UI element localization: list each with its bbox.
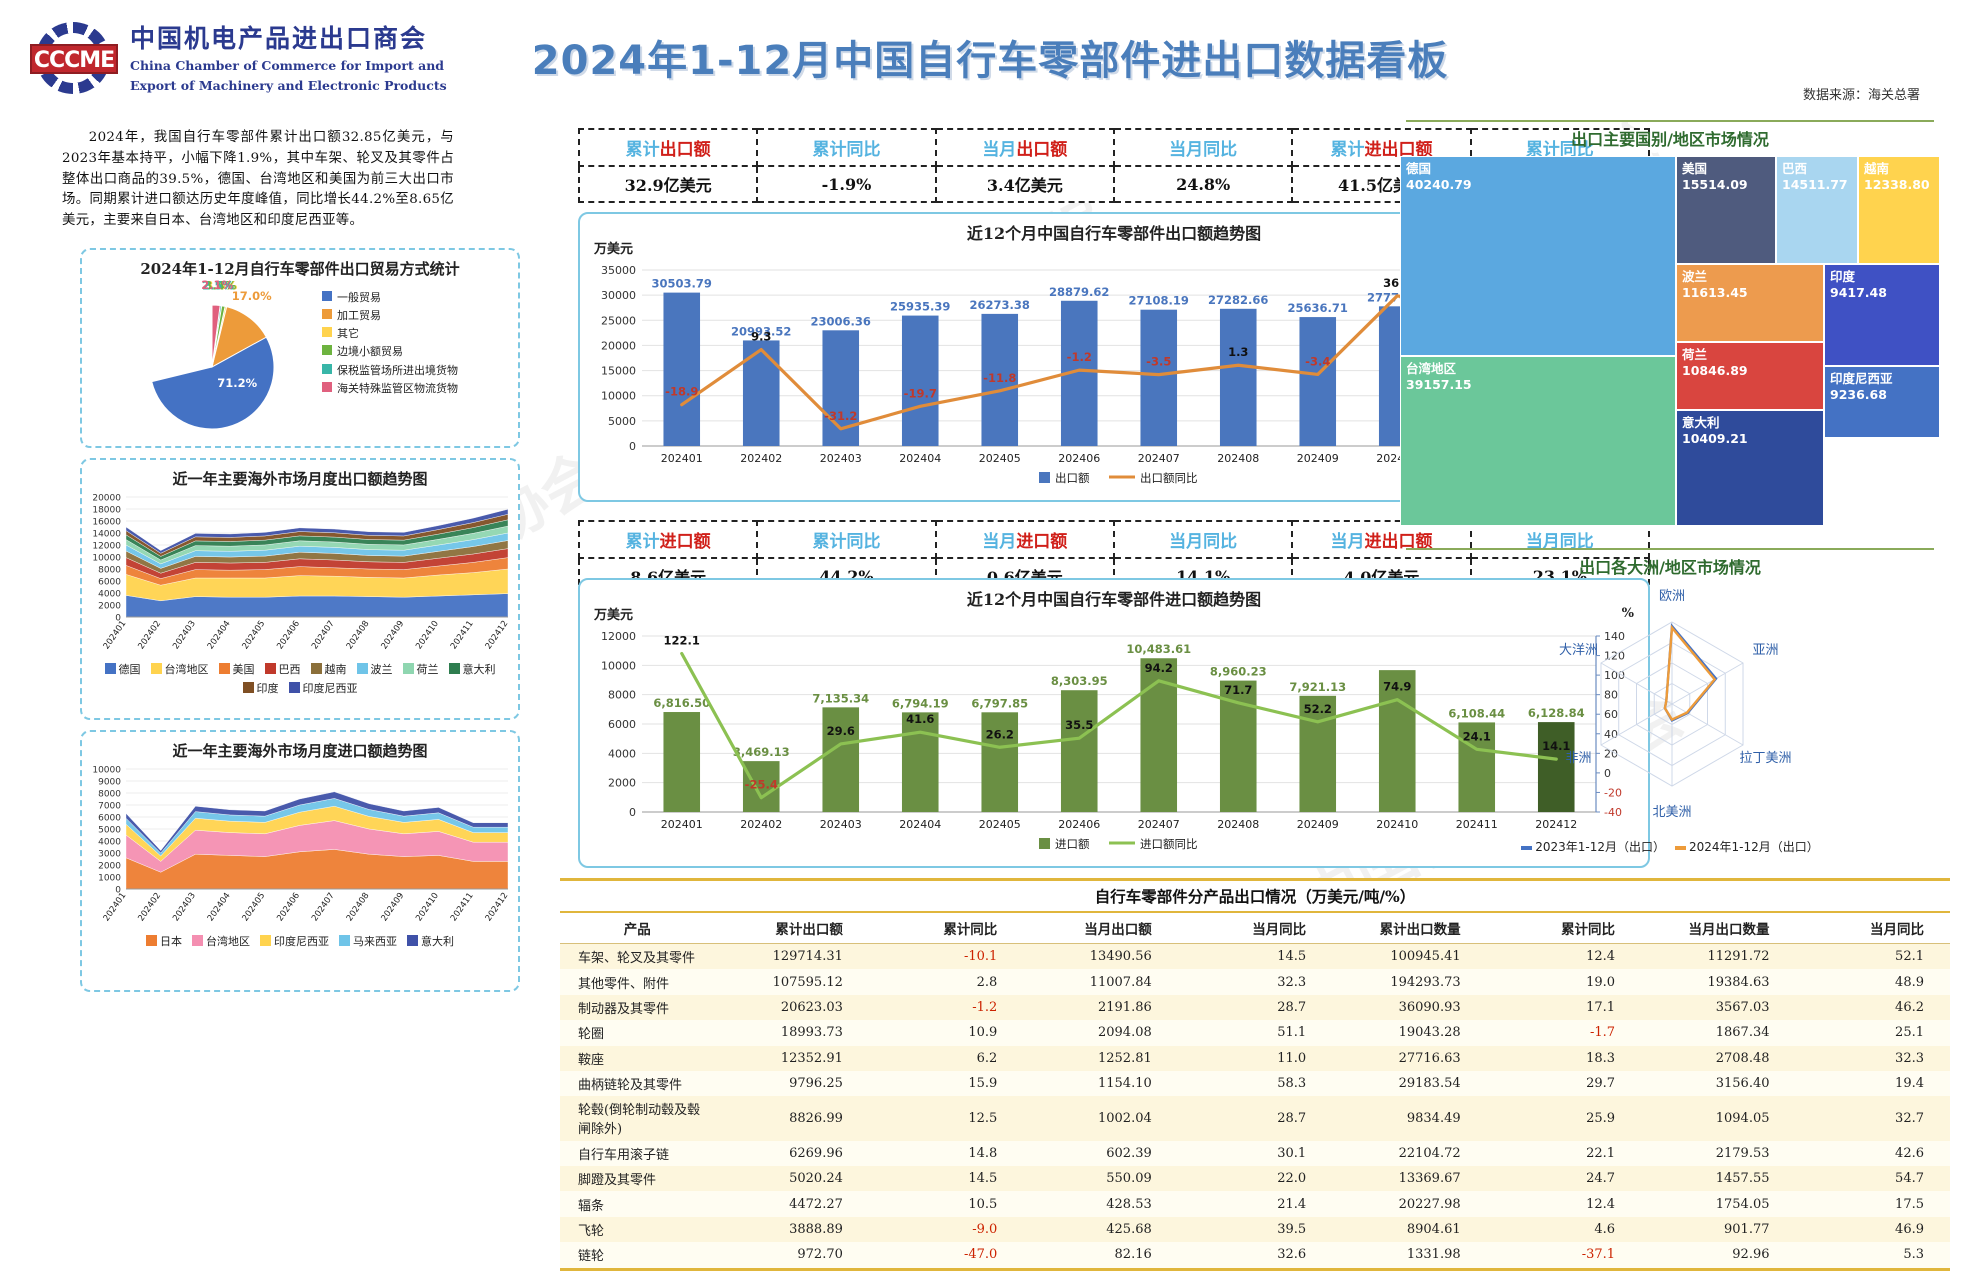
svg-text:202406: 202406: [1058, 452, 1100, 465]
svg-text:8,303.95: 8,303.95: [1051, 674, 1108, 688]
svg-text:非洲: 非洲: [1565, 751, 1591, 766]
product-value-cell: 2708.48: [1641, 1046, 1795, 1071]
treemap-cell-value: 15514.09: [1682, 177, 1770, 193]
svg-text:2000: 2000: [98, 602, 121, 612]
svg-text:202407: 202407: [1138, 452, 1180, 465]
svg-text:202401: 202401: [102, 619, 129, 651]
svg-text:30503.79: 30503.79: [652, 277, 712, 291]
product-value-cell: 12.4: [1487, 944, 1641, 970]
product-value-cell: 27716.63: [1332, 1046, 1486, 1071]
legend-item: 波兰: [357, 661, 393, 677]
treemap-cell[interactable]: 意大利10409.21: [1676, 410, 1824, 526]
legend-item: 日本: [146, 933, 182, 949]
product-value-cell: 11007.84: [1023, 969, 1177, 994]
legend-item: 美国: [219, 661, 255, 677]
product-value-cell: 9796.25: [714, 1071, 868, 1096]
svg-text:10000: 10000: [601, 659, 636, 672]
product-value-cell: 25.1: [1796, 1020, 1951, 1045]
svg-text:-25.4: -25.4: [745, 778, 778, 792]
product-value-cell: 39.5: [1178, 1217, 1332, 1242]
treemap-cell-name: 越南: [1864, 161, 1934, 177]
org-logo: CCCME 中国机电产品进出口商会 China Chamber of Comme…: [30, 18, 447, 96]
legend-item: 德国: [105, 661, 141, 677]
area-export-legend: 德国台湾地区美国巴西越南波兰荷兰意大利印度印度尼西亚: [82, 661, 518, 696]
svg-text:202402: 202402: [740, 818, 782, 831]
svg-text:71.2%: 71.2%: [217, 376, 257, 390]
svg-text:拉丁美洲: 拉丁美洲: [1740, 751, 1792, 766]
treemap-cell[interactable]: 波兰11613.45: [1676, 264, 1824, 342]
kpi-header-cell: 累计同比: [757, 521, 935, 558]
product-value-cell: 28.7: [1178, 995, 1332, 1020]
treemap-cell[interactable]: 巴西14511.77: [1776, 156, 1858, 264]
treemap-cell[interactable]: 德国40240.79: [1400, 156, 1676, 356]
org-name: 中国机电产品进出口商会 China Chamber of Commerce fo…: [130, 19, 447, 95]
page-title: 2024年1-12月中国自行车零部件进出口数据看板: [430, 28, 1550, 86]
export-trade-mode-pie-panel: 2024年1-12月自行车零部件出口贸易方式统计 71.2%17.0%3.8%3…: [80, 248, 520, 448]
svg-text:202404: 202404: [899, 452, 941, 465]
svg-text:3000: 3000: [98, 850, 121, 860]
product-value-cell: 22.1: [1487, 1141, 1641, 1166]
overseas-monthly-export-area-panel: 近一年主要海外市场月度出口额趋势图 0200040006000800010000…: [80, 458, 520, 720]
svg-text:8,960.23: 8,960.23: [1210, 665, 1267, 679]
product-value-cell: 425.68: [1023, 1217, 1177, 1242]
product-table-column-header: 当月同比: [1796, 913, 1951, 944]
summary-paragraph: 2024年，我国自行车零部件累计出口额32.85亿美元，与2023年基本持平，小…: [62, 128, 454, 232]
svg-text:6,794.19: 6,794.19: [892, 696, 949, 710]
product-value-cell: 17.1: [1487, 995, 1641, 1020]
legend-item: 印度尼西亚: [289, 680, 358, 696]
product-value-cell: 901.77: [1641, 1217, 1795, 1242]
product-value-cell: 21.4: [1178, 1191, 1332, 1216]
product-name-cell: 自行车用滚子链: [560, 1141, 714, 1166]
product-value-cell: -47.0: [869, 1242, 1023, 1269]
legend-item: 意大利: [449, 661, 496, 677]
treemap-cell-name: 巴西: [1782, 161, 1852, 177]
product-table-column-header: 当月出口额: [1023, 913, 1177, 944]
product-value-cell: 1867.34: [1641, 1020, 1795, 1045]
svg-text:6,797.85: 6,797.85: [971, 696, 1028, 710]
product-value-cell: 46.2: [1796, 995, 1951, 1020]
treemap-cell-value: 14511.77: [1782, 177, 1852, 193]
svg-text:71.7: 71.7: [1224, 683, 1252, 697]
treemap-cell-value: 10409.21: [1682, 431, 1818, 447]
svg-text:202406: 202406: [275, 619, 302, 651]
svg-text:202405: 202405: [241, 891, 268, 923]
legend-item: 越南: [311, 661, 347, 677]
cccme-logo-icon: CCCME: [30, 18, 118, 96]
svg-text:大洋洲: 大洋洲: [1559, 643, 1598, 658]
product-value-cell: 52.1: [1796, 944, 1951, 970]
product-value-cell: 1457.55: [1641, 1166, 1795, 1191]
svg-text:202405: 202405: [979, 452, 1021, 465]
product-value-cell: -10.1: [869, 944, 1023, 970]
product-value-cell: 3888.89: [714, 1217, 868, 1242]
svg-text:202406: 202406: [275, 891, 302, 923]
product-value-cell: 51.1: [1178, 1020, 1332, 1045]
svg-text:25636.71: 25636.71: [1288, 301, 1348, 315]
svg-text:202408: 202408: [1217, 452, 1259, 465]
svg-text:1.3: 1.3: [1228, 345, 1248, 359]
product-value-cell: 6269.96: [714, 1141, 868, 1166]
product-value-cell: -9.0: [869, 1217, 1023, 1242]
legend-item: 台湾地区: [192, 933, 250, 949]
product-table-header-row: 产品累计出口额累计同比当月出口额当月同比累计出口数量累计同比当月出口数量当月同比: [560, 913, 1950, 944]
area-import-chart: 0100020003000400050006000700080009000100…: [82, 761, 518, 933]
svg-text:3,469.13: 3,469.13: [733, 745, 790, 759]
svg-text:202408: 202408: [345, 619, 372, 651]
svg-text:7000: 7000: [98, 802, 121, 812]
product-value-cell: 428.53: [1023, 1191, 1177, 1216]
table-row[interactable]: 其他零件、附件107595.122.811007.8432.3194293.73…: [560, 969, 1950, 994]
treemap-cell-value: 39157.15: [1406, 377, 1670, 393]
product-value-cell: 1754.05: [1641, 1191, 1795, 1216]
svg-text:20000: 20000: [601, 339, 636, 352]
svg-text:52.2: 52.2: [1304, 702, 1332, 716]
svg-text:4000: 4000: [608, 747, 636, 760]
svg-text:9000: 9000: [98, 778, 121, 788]
table-row[interactable]: 曲柄链轮及其零件9796.2515.91154.1058.329183.5429…: [560, 1071, 1950, 1096]
svg-text:-11.8: -11.8: [983, 371, 1016, 385]
radar-title: 出口各大洲/地区市场情况: [1406, 548, 1934, 578]
svg-text:8000: 8000: [608, 689, 636, 702]
product-name-cell: 车架、轮叉及其零件: [560, 944, 714, 970]
treemap-cell[interactable]: 荷兰10846.89: [1676, 342, 1824, 410]
kpi-value-cell: -1.9%: [757, 166, 935, 202]
table-row[interactable]: 鞍座12352.916.21252.8111.027716.6318.32708…: [560, 1046, 1950, 1071]
svg-text:-3.5: -3.5: [1146, 355, 1171, 369]
svg-text:202407: 202407: [310, 619, 337, 651]
svg-text:30000: 30000: [601, 289, 636, 302]
svg-text:7,921.13: 7,921.13: [1289, 680, 1346, 694]
product-value-cell: 5020.24: [714, 1166, 868, 1191]
kpi-header-cell: 累计进口额: [579, 521, 757, 558]
svg-text:亚洲: 亚洲: [1753, 643, 1779, 658]
svg-text:202405: 202405: [241, 619, 268, 651]
product-value-cell: 20623.03: [714, 995, 868, 1020]
product-name-cell: 飞轮: [560, 1217, 714, 1242]
product-table-body: 车架、轮叉及其零件129714.31-10.113490.5614.510094…: [560, 944, 1950, 1270]
svg-text:202409: 202409: [1297, 818, 1339, 831]
product-name-cell: 轮圈: [560, 1020, 714, 1045]
table-row[interactable]: 自行车用滚子链6269.9614.8602.3930.122104.7222.1…: [560, 1141, 1950, 1166]
svg-text:-18.9: -18.9: [665, 385, 698, 399]
treemap-cell[interactable]: 越南12338.80: [1858, 156, 1940, 264]
export-unit-left: 万美元: [594, 238, 633, 257]
table-row[interactable]: 车架、轮叉及其零件129714.31-10.113490.5614.510094…: [560, 944, 1950, 970]
export-continent-radar: 欧洲亚洲拉丁美洲北美洲非洲大洋洲: [1400, 578, 1940, 836]
treemap-cell-name: 台湾地区: [1406, 361, 1670, 377]
svg-text:6000: 6000: [98, 578, 121, 588]
product-table-column-header: 产品: [560, 913, 714, 944]
table-row[interactable]: 制动器及其零件20623.03-1.22191.8628.736090.9317…: [560, 995, 1950, 1020]
product-value-cell: 19043.28: [1332, 1020, 1486, 1045]
svg-text:12000: 12000: [601, 630, 636, 643]
product-value-cell: 11291.72: [1641, 944, 1795, 970]
product-value-cell: 12.4: [1487, 1191, 1641, 1216]
product-value-cell: 18993.73: [714, 1020, 868, 1045]
product-value-cell: 14.5: [1178, 944, 1332, 970]
product-value-cell: 6.2: [869, 1046, 1023, 1071]
table-row[interactable]: 脚蹬及其零件5020.2414.5550.0922.013369.6724.71…: [560, 1166, 1950, 1191]
product-value-cell: 10.5: [869, 1191, 1023, 1216]
product-value-cell: 8904.61: [1332, 1217, 1486, 1242]
pie-legend-item: 保税监管场所进出境货物: [322, 362, 458, 380]
svg-text:9.3: 9.3: [751, 330, 771, 344]
svg-text:202412: 202412: [484, 891, 511, 923]
product-value-cell: 15.9: [869, 1071, 1023, 1096]
svg-text:202403: 202403: [171, 619, 198, 651]
area-export-chart: 0200040006000800010000120001400016000180…: [82, 489, 518, 661]
treemap-cell[interactable]: 台湾地区39157.15: [1400, 356, 1676, 526]
product-value-cell: -1.2: [869, 995, 1023, 1020]
legend-item: 台湾地区: [151, 661, 209, 677]
product-value-cell: 58.3: [1178, 1071, 1332, 1096]
product-value-cell: 48.9: [1796, 969, 1951, 994]
treemap-cell-name: 印度尼西亚: [1830, 371, 1934, 387]
pie-legend-item: 海关特殊监管区物流货物: [322, 380, 458, 398]
product-value-cell: 3156.40: [1641, 1071, 1795, 1096]
product-value-cell: 32.7: [1796, 1096, 1951, 1140]
svg-text:8000: 8000: [98, 790, 121, 800]
product-value-cell: 11.0: [1178, 1046, 1332, 1071]
svg-text:202406: 202406: [1058, 818, 1100, 831]
svg-text:8000: 8000: [98, 566, 121, 576]
svg-text:6000: 6000: [608, 718, 636, 731]
product-value-cell: 13490.56: [1023, 944, 1177, 970]
product-value-cell: 19.4: [1796, 1071, 1951, 1096]
area-import-legend: 日本台湾地区印度尼西亚马来西亚意大利: [82, 933, 518, 949]
product-value-cell: 2191.86: [1023, 995, 1177, 1020]
product-value-cell: 3567.03: [1641, 995, 1795, 1020]
svg-text:10000: 10000: [92, 554, 121, 564]
product-value-cell: 9834.49: [1332, 1096, 1486, 1140]
svg-text:202401: 202401: [661, 452, 703, 465]
product-table-column-header: 累计同比: [1487, 913, 1641, 944]
treemap-cell-name: 荷兰: [1682, 347, 1818, 363]
svg-text:-3.4: -3.4: [1305, 354, 1330, 368]
product-name-cell: 其他零件、附件: [560, 969, 714, 994]
export-continent-radar-panel: 出口各大洲/地区市场情况 欧洲亚洲拉丁美洲北美洲非洲大洋洲 2023年1-12月…: [1400, 548, 1940, 868]
treemap-cell[interactable]: 美国15514.09: [1676, 156, 1776, 264]
legend-item: 意大利: [407, 933, 454, 949]
table-row[interactable]: 轮毂(倒轮制动毂及毂闸除外)8826.9912.51002.0428.79834…: [560, 1096, 1950, 1140]
org-name-en-1: China Chamber of Commerce for Import and: [130, 58, 447, 75]
svg-text:202404: 202404: [899, 818, 941, 831]
svg-text:进口额同比: 进口额同比: [1140, 837, 1198, 851]
kpi-header-cell: 累计出口额: [579, 129, 757, 166]
kpi-header-cell: 当月同比: [1114, 129, 1292, 166]
svg-text:0: 0: [629, 440, 636, 453]
svg-text:6000: 6000: [98, 814, 121, 824]
product-value-cell: 972.70: [714, 1242, 868, 1269]
svg-text:北美洲: 北美洲: [1652, 805, 1691, 820]
product-value-cell: 25.9: [1487, 1096, 1641, 1140]
svg-text:27108.19: 27108.19: [1129, 294, 1189, 308]
svg-text:35.5: 35.5: [1065, 718, 1093, 732]
import-unit-left: 万美元: [594, 604, 633, 623]
product-value-cell: 28.7: [1178, 1096, 1332, 1140]
svg-text:202402: 202402: [136, 619, 163, 651]
legend-item: 印度尼西亚: [260, 933, 329, 949]
product-value-cell: 20227.98: [1332, 1191, 1486, 1216]
svg-text:23006.36: 23006.36: [811, 314, 871, 328]
svg-text:41.6: 41.6: [906, 712, 934, 726]
svg-text:-31.2: -31.2: [824, 409, 857, 423]
kpi-header-cell: 当月进口额: [936, 521, 1114, 558]
product-value-cell: 12.5: [869, 1096, 1023, 1140]
table-row[interactable]: 飞轮3888.89-9.0425.6839.58904.614.6901.774…: [560, 1217, 1950, 1242]
svg-text:10000: 10000: [92, 766, 121, 776]
kpi-value-cell: 24.8%: [1114, 166, 1292, 202]
svg-text:10,483.61: 10,483.61: [1126, 642, 1191, 656]
svg-text:202409: 202409: [1297, 452, 1339, 465]
treemap-cell-value: 11613.45: [1682, 285, 1818, 301]
product-table-column-header: 累计出口数量: [1332, 913, 1486, 944]
product-value-cell: 4.6: [1487, 1217, 1641, 1242]
svg-text:-1.2: -1.2: [1067, 350, 1092, 364]
product-value-cell: 14.8: [869, 1141, 1023, 1166]
product-value-cell: 107595.12: [714, 969, 868, 994]
radar-legend: 2023年1-12月（出口）2024年1-12月（出口）: [1400, 838, 1940, 855]
svg-text:26.2: 26.2: [986, 727, 1014, 741]
product-name-cell: 轮毂(倒轮制动毂及毂闸除外): [560, 1096, 714, 1140]
product-value-cell: 129714.31: [714, 944, 868, 970]
product-value-cell: 24.7: [1487, 1166, 1641, 1191]
product-value-cell: 29.7: [1487, 1071, 1641, 1096]
area-export-title: 近一年主要海外市场月度出口额趋势图: [82, 468, 518, 489]
svg-text:202409: 202409: [379, 891, 406, 923]
product-value-cell: 22.0: [1178, 1166, 1332, 1191]
product-value-cell: 29183.54: [1332, 1071, 1486, 1096]
pie-chart: 71.2%17.0%3.8%3.4%2.5%2.1%一般贸易加工贸易其它边境小额…: [82, 279, 518, 449]
pie-legend-item: 其它: [322, 325, 458, 343]
product-value-cell: 46.9: [1796, 1217, 1951, 1242]
product-value-cell: 82.16: [1023, 1242, 1177, 1269]
svg-text:202402: 202402: [136, 891, 163, 923]
product-value-cell: 13369.67: [1332, 1166, 1486, 1191]
svg-text:4000: 4000: [98, 838, 121, 848]
svg-text:18000: 18000: [92, 506, 121, 516]
svg-text:20000: 20000: [92, 494, 121, 504]
svg-text:202402: 202402: [740, 452, 782, 465]
product-value-cell: 550.09: [1023, 1166, 1177, 1191]
svg-text:202403: 202403: [820, 452, 862, 465]
table-row[interactable]: 轮圈18993.7310.92094.0851.119043.28-1.7186…: [560, 1020, 1950, 1045]
svg-text:5000: 5000: [608, 415, 636, 428]
area-import-title: 近一年主要海外市场月度进口额趋势图: [82, 740, 518, 761]
product-value-cell: 194293.73: [1332, 969, 1486, 994]
product-name-cell: 鞍座: [560, 1046, 714, 1071]
pie-chart-title: 2024年1-12月自行车零部件出口贸易方式统计: [82, 258, 518, 279]
svg-text:29.6: 29.6: [827, 724, 855, 738]
svg-text:202409: 202409: [379, 619, 406, 651]
svg-text:202411: 202411: [449, 619, 476, 651]
product-table-column-header: 当月同比: [1178, 913, 1332, 944]
product-export-table: 产品累计出口额累计同比当月出口额当月同比累计出口数量累计同比当月出口数量当月同比…: [560, 913, 1950, 1271]
treemap-cell-value: 12338.80: [1864, 177, 1934, 193]
svg-text:202404: 202404: [206, 891, 233, 923]
treemap-cell-value: 9417.48: [1830, 285, 1934, 301]
product-value-cell: 14.5: [869, 1166, 1023, 1191]
pie-legend-item: 加工贸易: [322, 307, 458, 325]
product-name-cell: 曲柄链轮及其零件: [560, 1071, 714, 1096]
treemap-cell-value: 9236.68: [1830, 387, 1934, 403]
product-value-cell: 19.0: [1487, 969, 1641, 994]
dashboard-header: CCCME 中国机电产品进出口商会 China Chamber of Comme…: [0, 0, 1968, 112]
treemap-cell[interactable]: 印度9417.48: [1824, 264, 1940, 366]
treemap-cell-value: 10846.89: [1682, 363, 1818, 379]
treemap-cell-name: 波兰: [1682, 269, 1818, 285]
product-value-cell: 19384.63: [1641, 969, 1795, 994]
pie-legend: 一般贸易加工贸易其它边境小额贸易保税监管场所进出境货物海关特殊监管区物流货物: [322, 289, 458, 398]
kpi-header-cell: 当月出口额: [936, 129, 1114, 166]
product-value-cell: 10.9: [869, 1020, 1023, 1045]
svg-text:欧洲: 欧洲: [1659, 589, 1685, 604]
product-value-cell: 8826.99: [714, 1096, 868, 1140]
product-value-cell: 22104.72: [1332, 1141, 1486, 1166]
export-country-treemap: 德国40240.79台湾地区39157.15美国15514.09巴西14511.…: [1400, 156, 1940, 526]
svg-text:202408: 202408: [1217, 818, 1259, 831]
product-value-cell: 36090.93: [1332, 995, 1486, 1020]
product-value-cell: 4472.27: [714, 1191, 868, 1216]
product-table-column-header: 当月出口数量: [1641, 913, 1795, 944]
product-value-cell: 32.3: [1178, 969, 1332, 994]
pie-legend-item: 一般贸易: [322, 289, 458, 307]
treemap-title: 出口主要国别/地区市场情况: [1406, 120, 1934, 150]
svg-text:202405: 202405: [979, 818, 1021, 831]
treemap-cell-name: 意大利: [1682, 415, 1818, 431]
product-value-cell: 100945.41: [1332, 944, 1486, 970]
svg-text:202410: 202410: [414, 891, 441, 923]
overseas-monthly-import-area-panel: 近一年主要海外市场月度进口额趋势图 0100020003000400050006…: [80, 730, 520, 992]
legend-item: 荷兰: [403, 661, 439, 677]
kpi-value-cell: 32.9亿美元: [579, 166, 757, 202]
pie-legend-item: 边境小额贸易: [322, 343, 458, 361]
treemap-cell-name: 德国: [1406, 161, 1670, 177]
export-country-treemap-panel: 出口主要国别/地区市场情况 德国40240.79台湾地区39157.15美国15…: [1400, 120, 1940, 540]
product-value-cell: 42.6: [1796, 1141, 1951, 1166]
radar-legend-item: 2023年1-12月（出口）: [1521, 838, 1665, 855]
product-value-cell: 32.6: [1178, 1242, 1332, 1269]
org-name-en-2: Export of Machinery and Electronic Produ…: [130, 78, 447, 95]
logo-wordmark: CCCME: [30, 44, 118, 74]
svg-text:202412: 202412: [484, 619, 511, 651]
product-value-cell: 30.1: [1178, 1141, 1332, 1166]
kpi-header-cell: 累计同比: [757, 129, 935, 166]
table-row[interactable]: 链轮972.70-47.082.1632.61331.98-37.192.965…: [560, 1242, 1950, 1269]
svg-text:5000: 5000: [98, 826, 121, 836]
table-row[interactable]: 辐条4472.2710.5428.5321.420227.9812.41754.…: [560, 1191, 1950, 1216]
product-table-column-header: 累计同比: [869, 913, 1023, 944]
treemap-cell[interactable]: 印度尼西亚9236.68: [1824, 366, 1940, 438]
svg-text:202407: 202407: [1138, 818, 1180, 831]
svg-text:202403: 202403: [820, 818, 862, 831]
product-value-cell: 2179.53: [1641, 1141, 1795, 1166]
svg-text:12000: 12000: [92, 542, 121, 552]
product-value-cell: 5.3: [1796, 1242, 1951, 1269]
svg-text:25000: 25000: [601, 314, 636, 327]
svg-text:122.1: 122.1: [664, 634, 700, 648]
svg-text:16000: 16000: [92, 518, 121, 528]
svg-text:进口额: 进口额: [1055, 837, 1090, 851]
svg-text:202403: 202403: [171, 891, 198, 923]
product-value-cell: 2.8: [869, 969, 1023, 994]
svg-text:6,816.50: 6,816.50: [653, 696, 710, 710]
radar-legend-item: 2024年1-12月（出口）: [1675, 838, 1819, 855]
product-value-cell: 1154.10: [1023, 1071, 1177, 1096]
svg-text:0: 0: [629, 806, 636, 819]
svg-text:15000: 15000: [601, 365, 636, 378]
